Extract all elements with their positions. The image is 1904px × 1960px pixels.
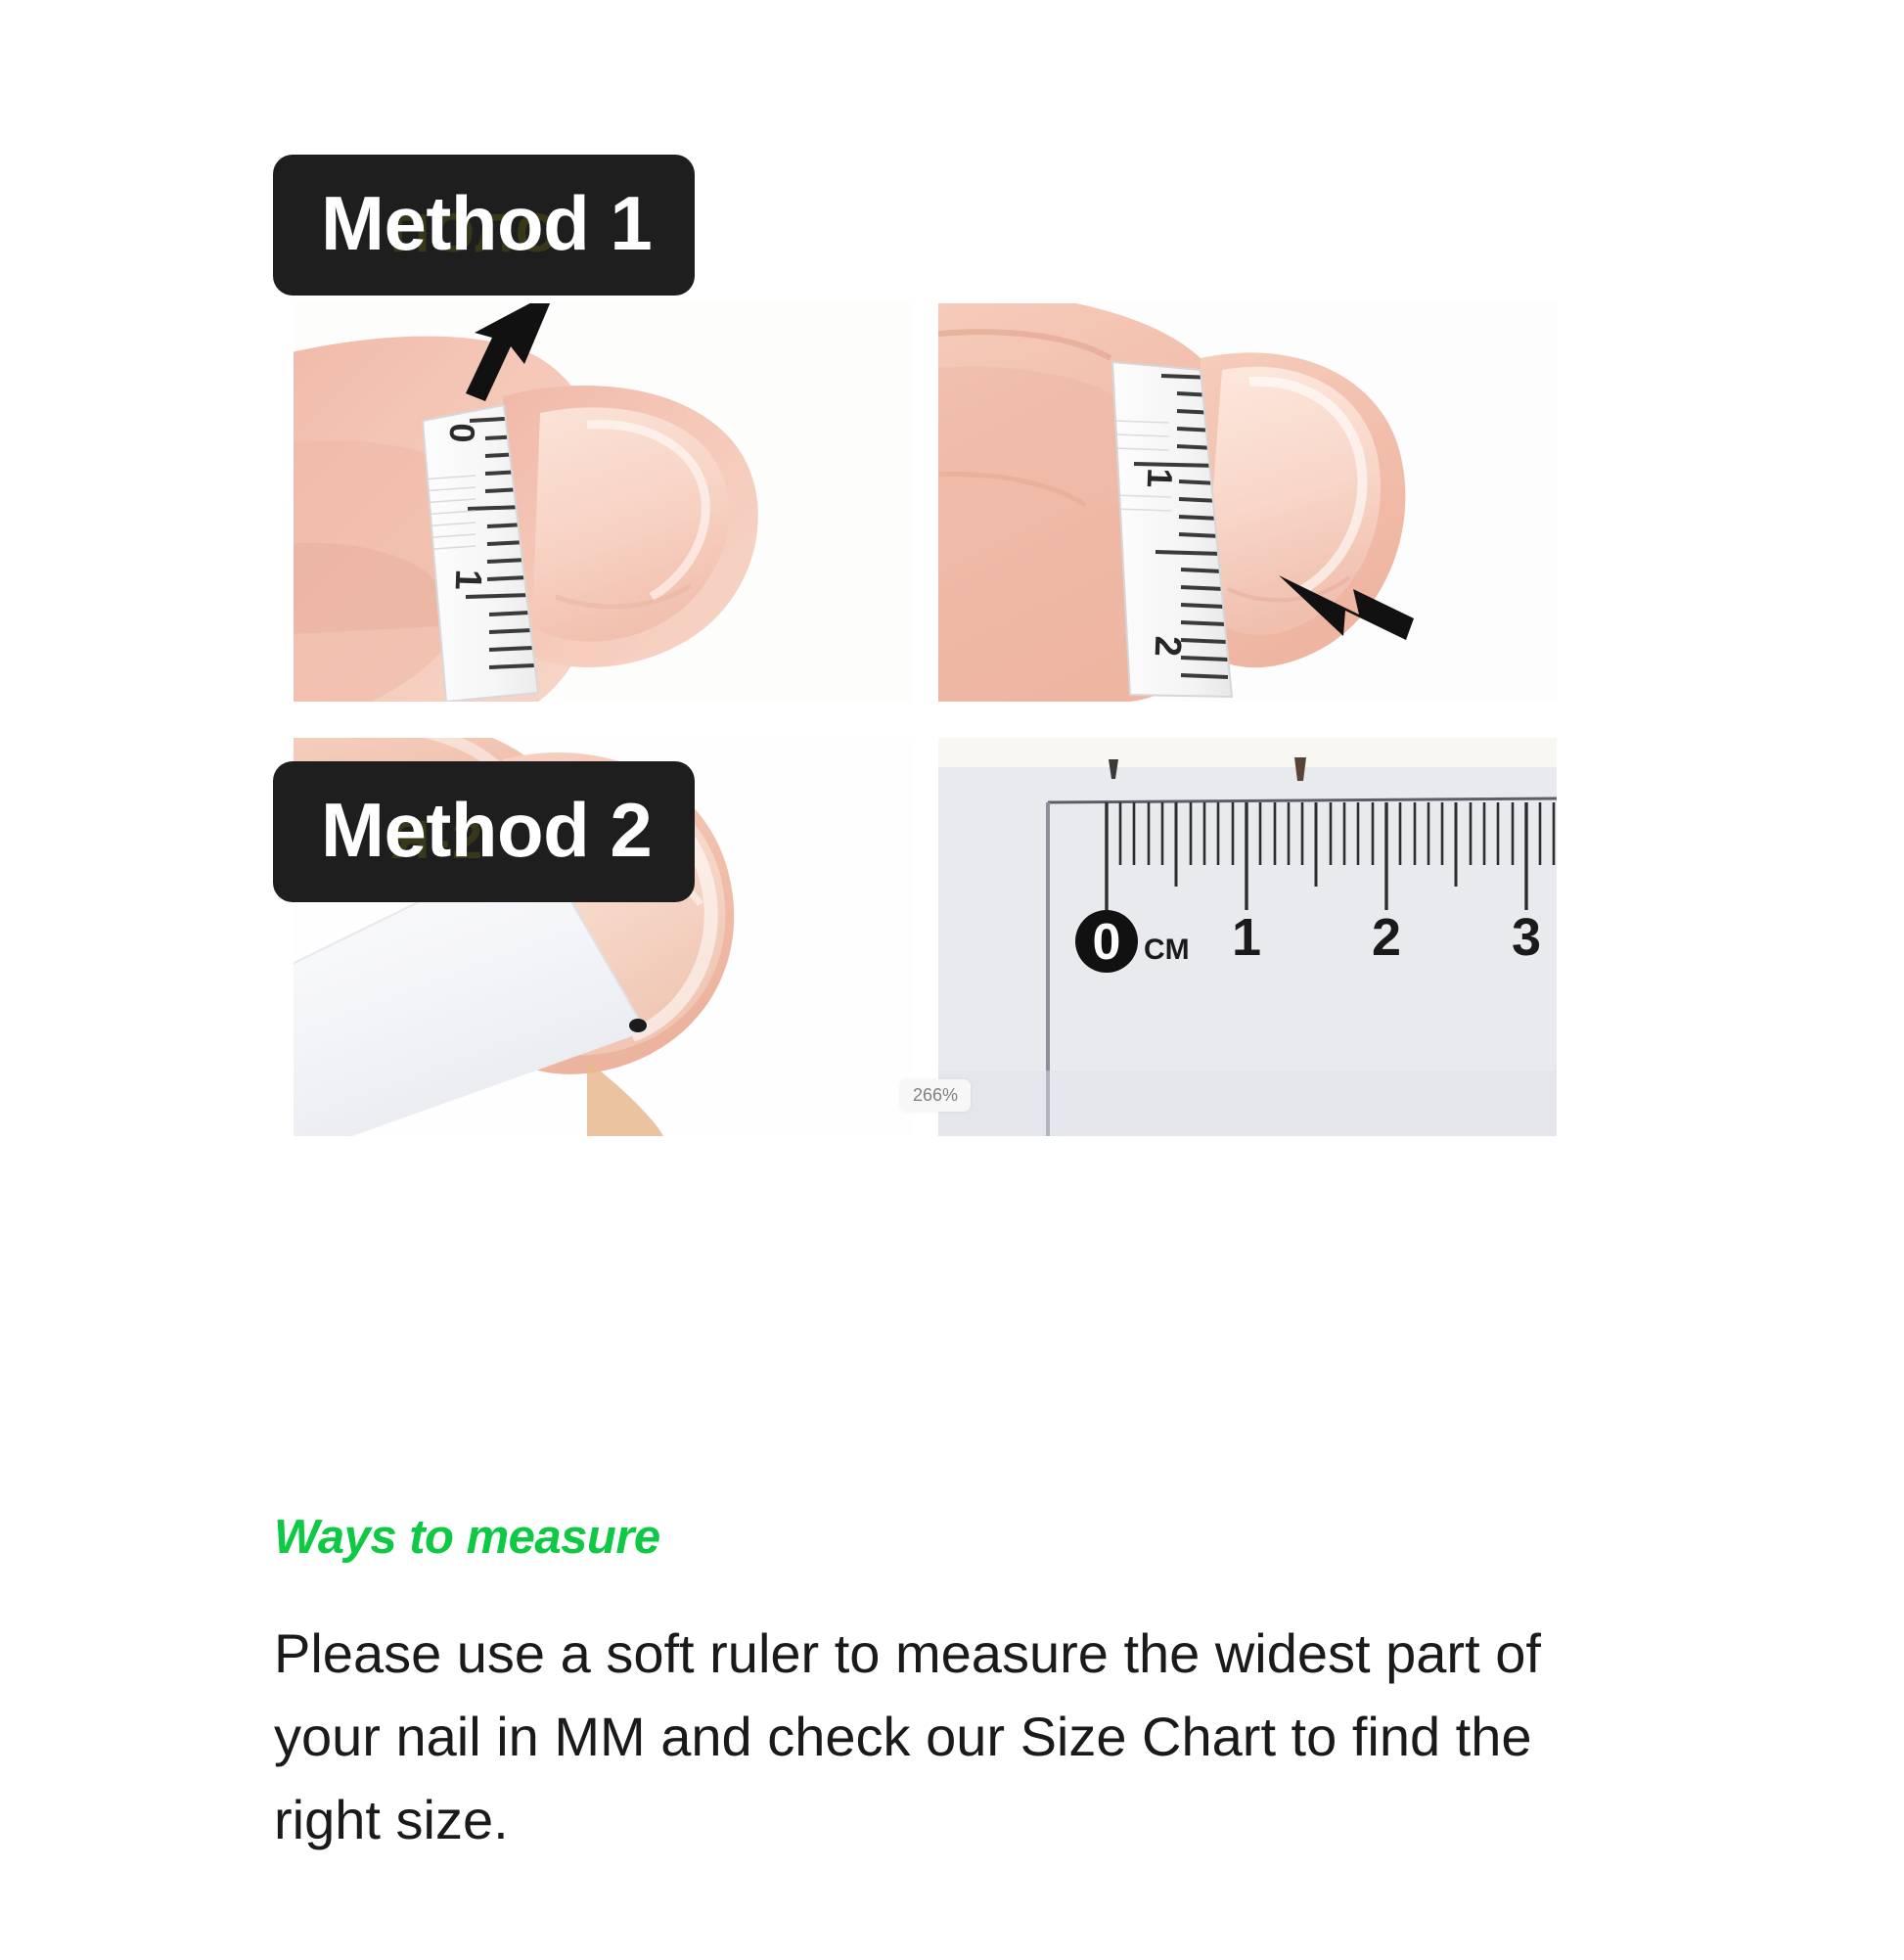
pen-mark-bottom (629, 1019, 647, 1032)
tape-label-2: 2 (1147, 635, 1189, 658)
section-heading: Ways to measure (274, 1512, 1644, 1565)
photo-tape-measure-wrapped-around-fingertip-front: 0 1 (294, 303, 912, 702)
method-2-badge-label: Method 2 (321, 787, 652, 873)
photo-tape-measure-wrapped-around-fingertip-side: 1 2 (938, 303, 1557, 702)
instructions-paragraph: Please use a soft ruler to measure the w… (274, 1612, 1634, 1861)
method-1-badge: ПОЛО Method 1 (273, 155, 695, 296)
instructions-block: Ways to measure Please use a soft ruler … (274, 1512, 1644, 1861)
ruler-unit-label: CM (1144, 934, 1190, 966)
method-2-badge: Я-2 Method 2 (273, 761, 695, 902)
photo-ruler-measuring-centimeters: 0 CM 1 2 3 (938, 738, 1557, 1136)
ruler-tick-label-3: 3 (1512, 908, 1541, 967)
ruler-tick-label-1: 1 (1232, 908, 1261, 967)
zoom-level-badge: 266% (900, 1079, 971, 1112)
measurement-photo-grid: 0 1 (294, 303, 1558, 1172)
method-1-photo-row: 0 1 (294, 303, 1558, 702)
tape-label-0: 0 (442, 423, 483, 443)
ruler-zero-label: 0 (1093, 914, 1121, 971)
tape-label-1: 1 (1140, 468, 1181, 488)
method-1-badge-label: Method 1 (321, 180, 652, 266)
tape-label-1: 1 (447, 569, 489, 591)
ruler-tick-label-2: 2 (1372, 908, 1401, 967)
